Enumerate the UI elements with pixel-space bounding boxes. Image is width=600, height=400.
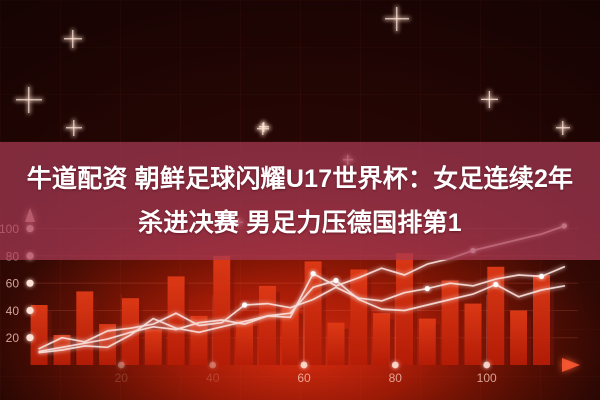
title-overlay-band [0, 142, 600, 260]
svg-text:80: 80 [389, 371, 403, 385]
svg-text:40: 40 [206, 371, 220, 385]
svg-text:60: 60 [297, 371, 311, 385]
svg-text:20: 20 [6, 331, 20, 345]
svg-text:100: 100 [477, 371, 497, 385]
chart-bars [31, 253, 554, 365]
banner-image: 20406080100 20406080100 牛道配资 朝鲜足球闪耀U17世界… [0, 0, 600, 400]
svg-text:60: 60 [6, 277, 20, 291]
svg-text:40: 40 [6, 304, 20, 318]
svg-text:20: 20 [115, 371, 129, 385]
